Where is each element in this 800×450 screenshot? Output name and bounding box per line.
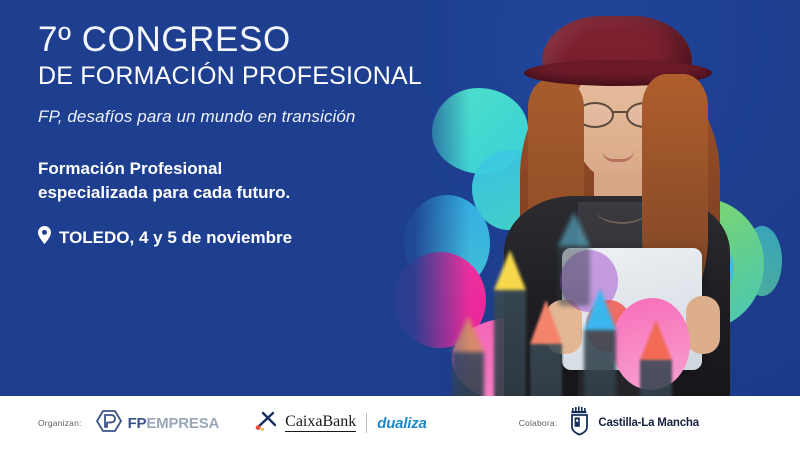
headline-line-2: DE FORMACIÓN PROFESIONAL — [38, 62, 458, 92]
colabora-label: Colabora: — [519, 418, 558, 428]
castilla-la-mancha-wordmark: Castilla-La Mancha — [598, 417, 699, 429]
poster-subtitle: FP, desafíos para un mundo en transición — [38, 107, 458, 127]
collaborators-group: Colabora: — [519, 406, 699, 441]
lead-line-1: Formación Profesional — [38, 159, 222, 178]
pencil-bokeh-4 — [640, 320, 672, 396]
headline-line-1: 7º CONGRESO — [38, 22, 458, 58]
congress-poster: 7º CONGRESO DE FORMACIÓN PROFESIONAL FP,… — [0, 0, 800, 450]
right-hand — [686, 296, 720, 354]
logo-divider — [366, 413, 367, 433]
dualiza-wordmark: dualiza — [377, 415, 426, 432]
pencil-bokeh-3 — [584, 288, 616, 396]
location-text: TOLEDO, 4 y 5 de noviembre — [59, 228, 292, 248]
location-line: TOLEDO, 4 y 5 de noviembre — [38, 226, 458, 249]
caixabank-star-icon — [255, 411, 277, 436]
footer-bar: Organizan: FPEMPRESA — [0, 396, 800, 450]
pencil-bokeh-1 — [494, 250, 526, 396]
artwork-stage: 7º CONGRESO DE FORMACIÓN PROFESIONAL FP,… — [0, 0, 800, 396]
poster-copy: 7º CONGRESO DE FORMACIÓN PROFESIONAL FP,… — [38, 22, 458, 249]
logo-caixabank-dualiza[interactable]: CaixaBank dualiza — [255, 411, 427, 436]
organizan-label: Organizan: — [38, 418, 82, 428]
lead-line-2: especializada para cada futuro. — [38, 183, 290, 202]
fpempresa-empresa-text: EMPRESA — [146, 415, 219, 432]
logo-castilla-la-mancha[interactable]: Castilla-La Mancha — [569, 406, 699, 441]
map-pin-icon — [38, 226, 51, 249]
logo-fpempresa[interactable]: FPEMPRESA — [96, 409, 220, 438]
lead-text: Formación Profesional especializada para… — [38, 157, 458, 204]
caixabank-wordmark: CaixaBank — [285, 414, 356, 433]
fpempresa-wordmark: FPEMPRESA — [128, 415, 220, 432]
castilla-la-mancha-shield-icon — [569, 406, 591, 441]
fpempresa-fp-text: FP — [128, 415, 147, 432]
pencil-bokeh-2 — [530, 300, 562, 396]
organizers-group: Organizan: FPEMPRESA — [38, 409, 427, 438]
fpempresa-hexagon-icon — [96, 409, 122, 438]
necklace — [596, 196, 648, 224]
